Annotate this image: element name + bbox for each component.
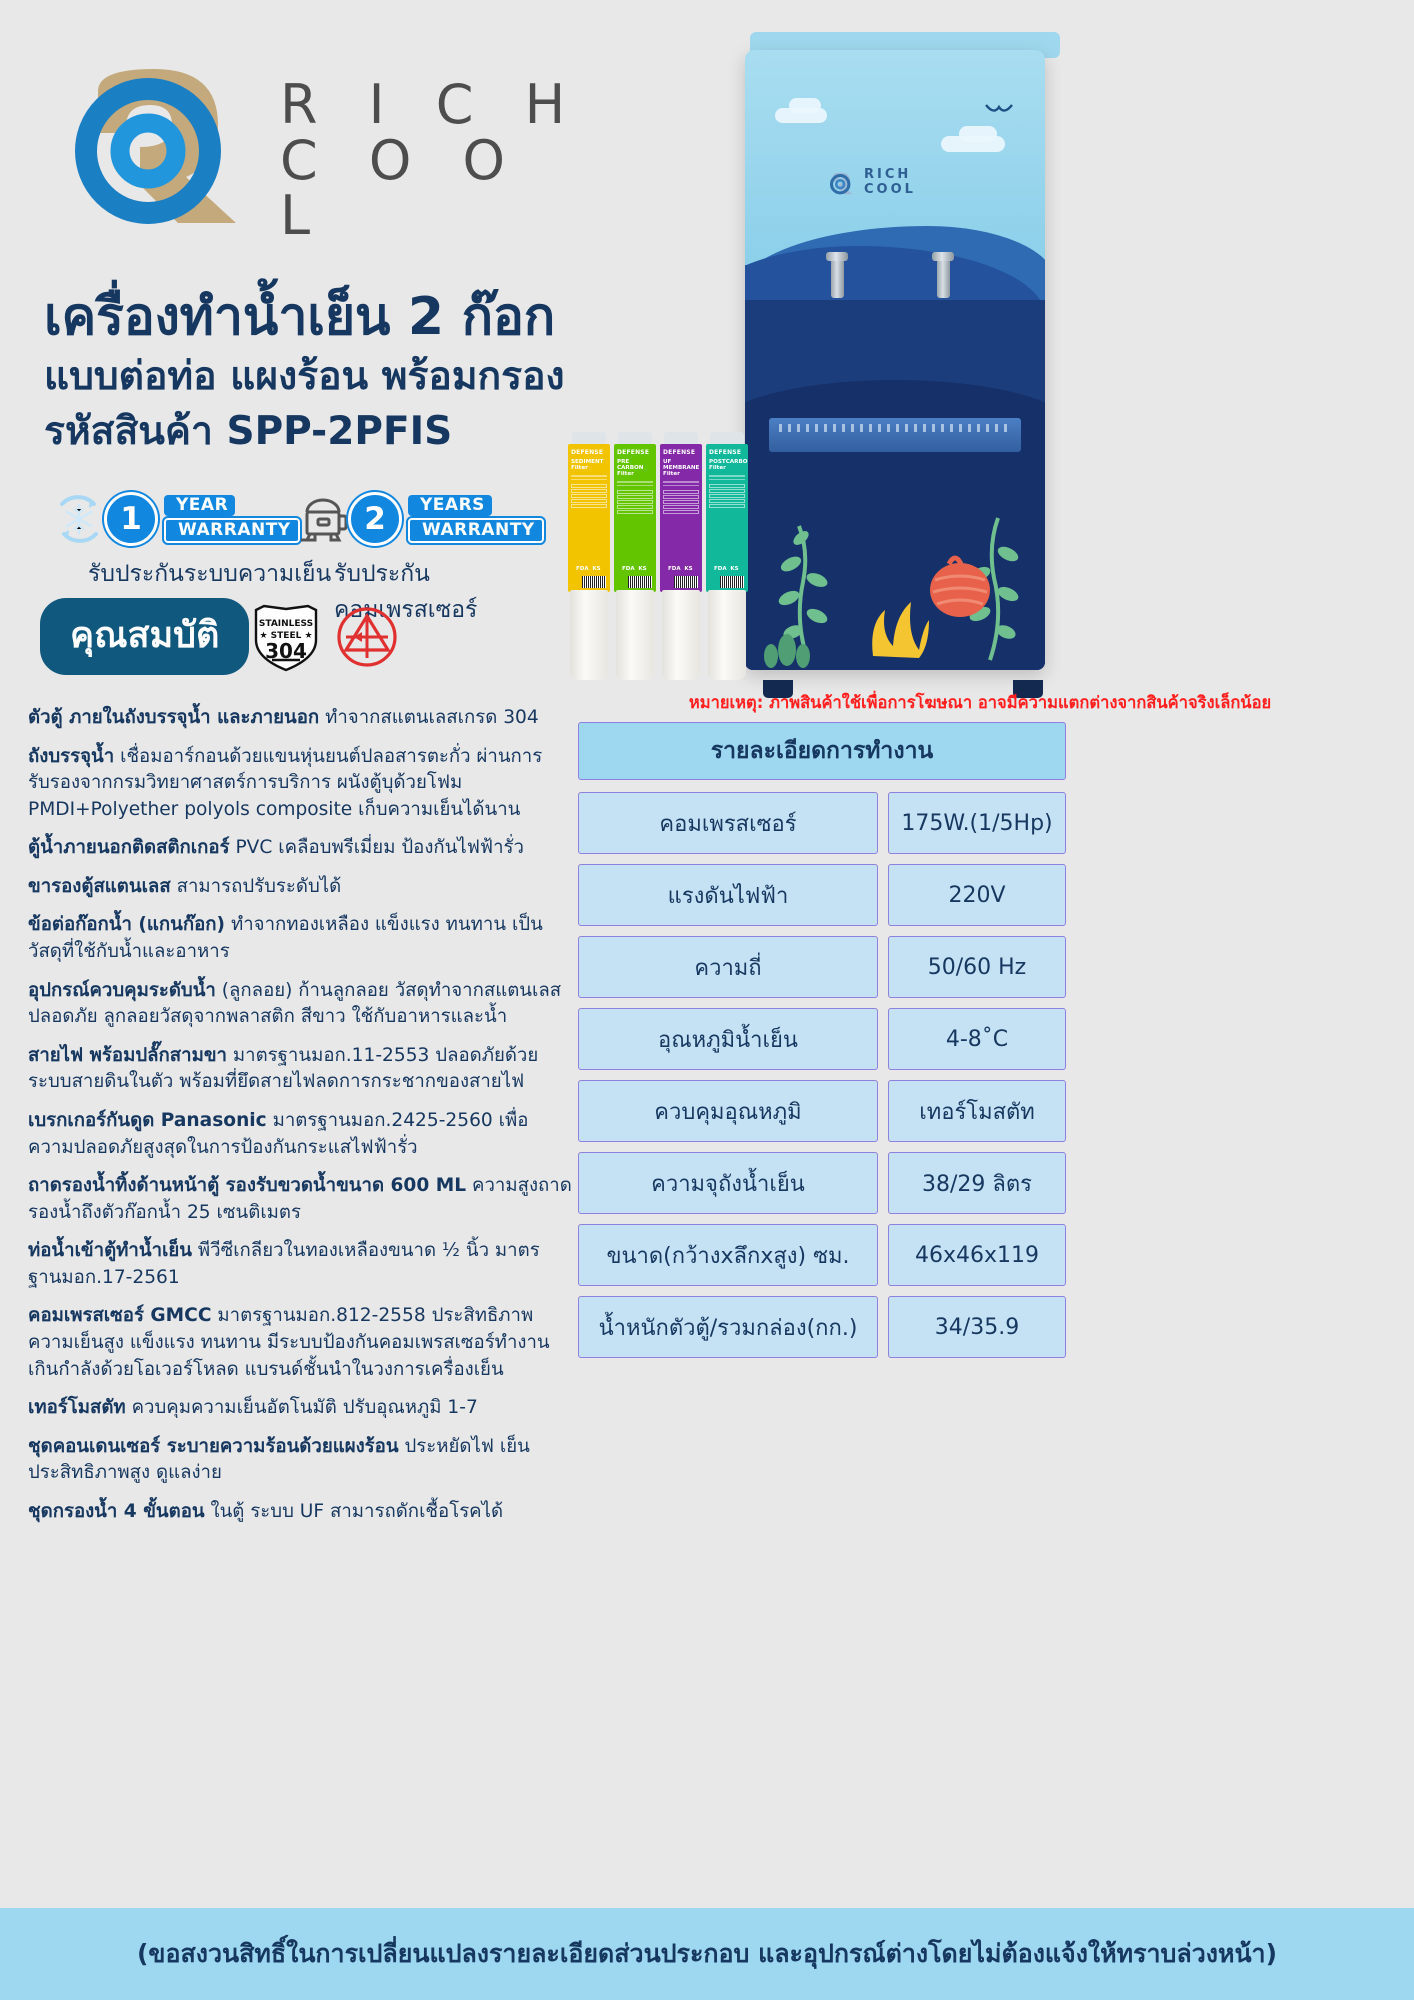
spec-key: ความถี่ [578, 936, 878, 998]
filter-housing [708, 590, 746, 680]
spec-value: 175W.(1/5Hp) [888, 792, 1066, 854]
subtitle-type: แบบต่อท่อ แผงร้อน พร้อมกรอง [44, 345, 565, 407]
spec-key: ควบคุมอุณหภูมิ [578, 1080, 878, 1142]
warranty-unit: YEAR [164, 495, 235, 516]
filter-certs: FDA KS [576, 566, 601, 572]
drip-tray-grill [779, 424, 1011, 432]
water-tap-left-head[interactable] [826, 252, 848, 261]
list-item: อุปกรณ์ควบคุมระดับน้ำ (ลูกลอย) ก้านลูกลอ… [28, 978, 573, 1031]
coral-red-icon [921, 548, 999, 630]
filter-brand: DEFENSE [571, 449, 607, 456]
filter-cartridge: DEFENSE SEDIMENT Filter FDA KS [568, 432, 610, 680]
feature-bold: อุปกรณ์ควบคุมระดับน้ำ [28, 980, 216, 1001]
table-row: น้ำหนักตัวตู้/รวมกล่อง(กก.) 34/35.9 [578, 1296, 1066, 1358]
feature-bold: คอมเพรสเซอร์ GMCC [28, 1305, 211, 1326]
warranty-badge-text: YEAR WARRANTY [146, 492, 309, 546]
feature-bold: ตัวตู้ ภายในถังบรรจุน้ำ และภายนอก [28, 707, 319, 728]
table-row: ความจุถังน้ำเย็น 38/29 ลิตร [578, 1152, 1066, 1214]
spec-table-header: รายละเอียดการทำงาน [578, 722, 1066, 780]
unit-brand-text: RICH COOL [864, 168, 916, 198]
feature-bold: เทอร์โมสตัท [28, 1397, 126, 1418]
compressor-icon [294, 490, 352, 548]
warranty-label-cooling: รับประกันระบบความเย็น [88, 556, 331, 592]
filter-desc-lines [571, 475, 607, 480]
feature-bold: สายไฟ พร้อมปลั๊กสามขา [28, 1045, 227, 1066]
feature-bold: ขารองตู้สแตนเลส [28, 876, 171, 897]
filter-desc-lines [709, 475, 745, 480]
warranty-row: 1 YEAR WARRANTY [44, 490, 544, 580]
brand-wordmark: R I C H C O O L [280, 77, 588, 244]
filter-brand: DEFENSE [617, 449, 653, 456]
filter-name: PRE CARBON Filter [617, 459, 653, 477]
filter-name: UF MEMBRANE Filter [663, 459, 699, 477]
filter-barcode [628, 576, 652, 588]
warranty-word: WARRANTY [408, 518, 544, 543]
unit-brand-line2: COOL [864, 183, 916, 198]
spec-value: 34/35.9 [888, 1296, 1066, 1358]
filter-barcode [720, 576, 744, 588]
product-infographic-page: R I C H C O O L เครื่องทำน้ำเย็น 2 ก๊อก … [0, 0, 1414, 2000]
water-cooler-product-image: RICH COOL [745, 32, 1065, 682]
filter-cartridge: DEFENSE PRE CARBON Filter FDA KS [614, 432, 656, 680]
filter-desc-lines [663, 481, 699, 486]
filter-label: DEFENSE SEDIMENT Filter FDA KS [568, 444, 610, 592]
feature-bold: ชุดคอนเดนเซอร์ ระบายความร้อนด้วยแผงร้อน [28, 1436, 399, 1457]
list-item: ข้อต่อก๊อกน้ำ (แกนก๊อก) ทำจากทองเหลือง แ… [28, 912, 573, 965]
specification-table: รายละเอียดการทำงาน คอมเพรสเซอร์ 175W.(1/… [578, 722, 1066, 1368]
feature-bold: ท่อน้ำเข้าตู้ทำน้ำเย็น [28, 1240, 192, 1261]
list-item: ตัวตู้ ภายในถังบรรจุน้ำ และภายนอก ทำจากส… [28, 705, 573, 732]
filter-certs: FDA KS [622, 566, 647, 572]
list-item: ขารองตู้สแตนเลส สามารถปรับระดับได้ [28, 874, 573, 901]
filter-spec-grid [709, 484, 745, 508]
spec-value: เทอร์โมสตัท [888, 1080, 1066, 1142]
list-item: เบรกเกอร์กันดูด Panasonic มาตรฐานมอก.242… [28, 1108, 573, 1161]
feature-bold: เบรกเกอร์กันดูด Panasonic [28, 1110, 267, 1131]
footer-bar: (ขอสงวนสิทธิ์ในการเปลี่ยนแปลงรายละเอียดส… [0, 1908, 1414, 2000]
feature-bold: ถาดรองน้ำทิ้งด้านหน้าตู้ รองรับขวดน้ำขนา… [28, 1175, 466, 1196]
spec-key: คอมเพรสเซอร์ [578, 792, 878, 854]
warranty-badge-2: 2 YEARS WARRANTY [348, 492, 553, 546]
filter-label: DEFENSE POSTCARBON Filter FDA KS [706, 444, 748, 592]
product-code: รหัสสินค้า SPP-2PFIS [44, 400, 452, 462]
filter-housing [570, 590, 608, 680]
feature-bold: ตู้น้ำภายนอกติดสติกเกอร์ [28, 837, 230, 858]
list-item: ตู้น้ำภายนอกติดสติกเกอร์ PVC เคลือบพรีเม… [28, 835, 573, 862]
cloud-icon [789, 98, 821, 113]
warranty-badge-text: YEARS WARRANTY [390, 492, 553, 546]
water-tap-right-head[interactable] [932, 252, 954, 261]
filter-name: POSTCARBON Filter [709, 459, 745, 471]
spec-value: 46x46x119 [888, 1224, 1066, 1286]
table-row: อุณหภูมิน้ำเย็น 4-8˚C [578, 1008, 1066, 1070]
svg-text:STAINLESS: STAINLESS [259, 619, 313, 629]
feature-rest: ควบคุมความเย็นอัตโนมัติ ปรับอุณหภูมิ 1-7 [126, 1397, 478, 1418]
tisi-mark-icon [336, 606, 398, 668]
richcool-logo-icon [829, 170, 857, 196]
table-row: ขนาด(กว้างxลึกxสูง) ซม. 46x46x119 [578, 1224, 1066, 1286]
snowflake-cycle-icon [50, 490, 108, 548]
filter-spec-grid [571, 484, 607, 508]
filter-barcode [674, 576, 698, 588]
feature-rest: PVC เคลือบพรีเมี่ยม ป้องกันไฟฟ้ารั่ว [230, 837, 524, 858]
warranty-cooling-system: 1 YEAR WARRANTY [50, 490, 309, 548]
feature-bold: ข้อต่อก๊อกน้ำ (แกนก๊อก) [28, 914, 225, 935]
feature-bold: ถังบรรจุน้ำ [28, 746, 114, 767]
list-item: ท่อน้ำเข้าตู้ทำน้ำเย็น พีวีซีเกลียวในทอง… [28, 1238, 573, 1291]
filter-barcode [582, 576, 606, 588]
feature-list: ตัวตู้ ภายในถังบรรจุน้ำ และภายนอก ทำจากส… [28, 705, 573, 1537]
logo-line-rich: R I C H [280, 77, 588, 133]
unit-brand-line1: RICH [864, 168, 916, 183]
list-item: ถาดรองน้ำทิ้งด้านหน้าตู้ รองรับขวดน้ำขนา… [28, 1173, 573, 1226]
list-item: ชุดกรองน้ำ 4 ขั้นตอน ในตู้ ระบบ UF สามาร… [28, 1499, 573, 1526]
warranty-years-number: 1 [104, 492, 158, 546]
filter-desc-lines [617, 481, 653, 486]
spec-key: ความจุถังน้ำเย็น [578, 1152, 878, 1214]
filter-brand: DEFENSE [709, 449, 745, 456]
filter-brand: DEFENSE [663, 449, 699, 456]
list-item: ชุดคอนเดนเซอร์ ระบายความร้อนด้วยแผงร้อน … [28, 1434, 573, 1487]
list-item: สายไฟ พร้อมปลั๊กสามขา มาตรฐานมอก.11-2553… [28, 1043, 573, 1096]
unit-brand-logo: RICH COOL [829, 168, 916, 198]
list-item: ถังบรรจุน้ำ เชื่อมอาร์กอนด้วยแขนหุ่นยนต์… [28, 744, 573, 824]
filter-cartridges-group: DEFENSE SEDIMENT Filter FDA KS DEFENSE P… [568, 432, 748, 682]
spec-key: อุณหภูมิน้ำเย็น [578, 1008, 878, 1070]
filter-housing [616, 590, 654, 680]
water-tap-left[interactable] [831, 256, 844, 298]
warranty-word: WARRANTY [164, 518, 300, 543]
warranty-years-number: 2 [348, 492, 402, 546]
warranty-compressor: 2 YEARS WARRANTY [294, 490, 553, 548]
spec-key: น้ำหนักตัวตู้/รวมกล่อง(กก.) [578, 1296, 878, 1358]
coral-green-icon [757, 610, 817, 670]
richcool-logo-icon [68, 55, 268, 230]
table-row: ควบคุมอุณหภูมิ เทอร์โมสตัท [578, 1080, 1066, 1142]
spec-key: ขนาด(กว้างxลึกxสูง) ซม. [578, 1224, 878, 1286]
filter-cartridge: DEFENSE POSTCARBON Filter FDA KS [706, 432, 748, 680]
features-section-badge: คุณสมบัติ [40, 598, 249, 675]
spec-key: แรงดันไฟฟ้า [578, 864, 878, 926]
spec-value: 38/29 ลิตร [888, 1152, 1066, 1214]
filter-name: SEDIMENT Filter [571, 459, 607, 471]
filter-label: DEFENSE PRE CARBON Filter FDA KS [614, 444, 656, 592]
bird-icon [985, 102, 1013, 116]
water-tap-right[interactable] [937, 256, 950, 298]
cloud-icon [959, 126, 997, 142]
list-item: เทอร์โมสตัท ควบคุมความเย็นอัตโนมัติ ปรับ… [28, 1395, 573, 1422]
filter-certs: FDA KS [668, 566, 693, 572]
table-row: แรงดันไฟฟ้า 220V [578, 864, 1066, 926]
table-row: ความถี่ 50/60 Hz [578, 936, 1066, 998]
feature-bold: ชุดกรองน้ำ 4 ขั้นตอน [28, 1501, 205, 1522]
product-image-disclaimer: หมายเหตุ: ภาพสินค้าใช้เพื่อการโฆษณา อาจม… [585, 690, 1375, 716]
product-image-area: RICH COOL [560, 20, 1380, 690]
filter-cartridge: DEFENSE UF MEMBRANE Filter FDA KS [660, 432, 702, 680]
table-row: คอมเพรสเซอร์ 175W.(1/5Hp) [578, 792, 1066, 854]
spec-value: 50/60 Hz [888, 936, 1066, 998]
warranty-unit: YEARS [408, 495, 492, 516]
feature-rest: ในตู้ ระบบ UF สามารถดักเชื้อโรคได้ [205, 1501, 503, 1522]
footer-disclaimer: (ขอสงวนสิทธิ์ในการเปลี่ยนแปลงรายละเอียดส… [137, 1934, 1277, 1974]
feature-rest: สามารถปรับระดับได้ [171, 876, 342, 897]
stainless-steel-304-shield-icon: STAINLESS ★ STEEL ★ 304 [250, 600, 322, 672]
spec-value: 4-8˚C [888, 1008, 1066, 1070]
feature-rest: ทำจากสแตนเลสเกรด 304 [319, 707, 539, 728]
filter-housing [662, 590, 700, 680]
filter-label: DEFENSE UF MEMBRANE Filter FDA KS [660, 444, 702, 592]
filter-spec-grid [663, 490, 699, 514]
list-item: คอมเพรสเซอร์ GMCC มาตรฐานมอก.812-2558 ปร… [28, 1303, 573, 1383]
filter-spec-grid [617, 490, 653, 514]
cooler-cabinet: RICH COOL [745, 50, 1045, 670]
filter-certs: FDA KS [714, 566, 739, 572]
warranty-badge-1: 1 YEAR WARRANTY [104, 492, 309, 546]
logo-line-cool: C O O L [280, 133, 588, 244]
brand-logo: R I C H C O O L [68, 55, 588, 230]
spec-value: 220V [888, 864, 1066, 926]
